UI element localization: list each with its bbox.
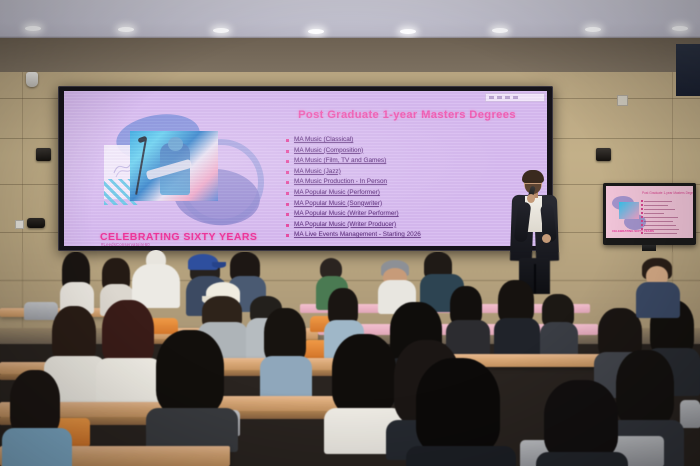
bullet-marker-icon <box>286 192 289 195</box>
aux-confidence-monitor[interactable]: Post Graduate 1-year Masters Degrees CEL… <box>603 183 696 245</box>
ceiling-light-3 <box>213 28 229 33</box>
main-presentation-screen[interactable]: CELEBRATING SIXTY YEARS #LeedsConservato… <box>58 86 553 251</box>
person <box>262 308 308 388</box>
aux-campaign-headline: CELEBRATING SIXTY YEARS <box>612 229 654 233</box>
bullet-marker-icon <box>286 171 289 174</box>
toolbar-icon-4[interactable] <box>513 96 518 99</box>
bullet-text: MA Music (Jazz) <box>294 167 341 176</box>
list-item: MA Music (Film, TV and Games) <box>286 156 536 165</box>
aux-slide-surface: Post Graduate 1-year Masters Degrees CEL… <box>606 186 693 238</box>
list-item: MA Music (Classical) <box>286 135 536 144</box>
list-item: MA Live Events Management - Starting 202… <box>286 230 536 239</box>
list-item: MA Music (Jazz) <box>286 167 536 176</box>
toolbar-icon-3[interactable] <box>505 96 510 99</box>
bullet-text: MA Music (Composition) <box>294 146 363 155</box>
ceiling-light-1 <box>25 26 41 31</box>
wall-plate-left[interactable] <box>15 220 24 229</box>
bullet-marker-icon <box>286 181 289 184</box>
corner-panel-right <box>676 44 700 96</box>
person <box>8 370 64 466</box>
bullet-marker-icon <box>286 203 289 206</box>
toolbar-icon-1[interactable] <box>489 96 494 99</box>
ceiling-light-6 <box>492 28 508 33</box>
bullet-marker-icon <box>286 160 289 163</box>
person <box>448 286 486 346</box>
bullet-marker-icon <box>286 139 289 142</box>
person <box>540 380 622 466</box>
person <box>100 300 156 390</box>
ceiling-light-2 <box>118 27 134 32</box>
ceiling <box>0 0 700 40</box>
person <box>410 358 506 466</box>
slide-artwork: CELEBRATING SIXTY YEARS #LeedsConservato… <box>82 103 267 233</box>
operator-person <box>636 258 678 316</box>
presentation-toolbar[interactable] <box>485 93 545 102</box>
slide-title: Post Graduate 1-year Masters Degrees <box>276 109 538 121</box>
bullet-text: MA Music (Classical) <box>294 135 353 144</box>
person <box>152 330 230 440</box>
bullet-text: MA Music (Film, TV and Games) <box>294 156 386 165</box>
bullet-marker-icon <box>286 213 289 216</box>
person <box>60 252 92 312</box>
slide-surface: CELEBRATING SIXTY YEARS #LeedsConservato… <box>64 91 547 246</box>
person <box>540 294 576 350</box>
bullet-text: MA Popular Music (Writer Performer) <box>294 209 399 218</box>
list-item: MA Music Production - In Person <box>286 177 536 186</box>
bullet-marker-icon <box>286 234 289 237</box>
ceiling-light-8 <box>672 26 688 31</box>
list-item: MA Popular Music (Songwriter) <box>286 199 536 208</box>
ceiling-light-7 <box>585 27 601 32</box>
audience-area <box>0 250 700 466</box>
aux-slide-title: Post Graduate 1-year Masters Degrees <box>642 191 693 195</box>
list-item: MA Popular Music (Writer Producer) <box>286 220 536 229</box>
bullet-text: MA Live Events Management - Starting 202… <box>294 230 421 239</box>
person <box>496 280 536 346</box>
bullet-marker-icon <box>286 224 289 227</box>
bullet-text: MA Popular Music (Performer) <box>294 188 380 197</box>
ceiling-light-4 <box>308 29 324 34</box>
list-item: MA Popular Music (Performer) <box>286 188 536 197</box>
ceiling-light-5 <box>400 29 416 34</box>
bullet-text: MA Popular Music (Songwriter) <box>294 199 382 208</box>
aux-artwork-photo <box>619 202 639 219</box>
presenter-hair <box>522 170 544 183</box>
toolbar-icon-2[interactable] <box>497 96 502 99</box>
campaign-hashtag: #LeedsConservatoire60 <box>101 242 150 246</box>
wall-speaker-dark-right <box>596 148 611 161</box>
lecture-hall-photo: CELEBRATING SIXTY YEARS #LeedsConservato… <box>0 0 700 466</box>
bullet-text: MA Music Production - In Person <box>294 177 387 186</box>
bullet-marker-icon <box>286 150 289 153</box>
artwork-photo-guitarist <box>130 131 218 201</box>
wall-speaker-low-left <box>27 218 45 228</box>
upper-wall <box>0 38 700 74</box>
wall-speaker-white-left <box>26 72 38 87</box>
wall-speaker-dark-left <box>36 148 51 161</box>
bullet-text: MA Popular Music (Writer Producer) <box>294 220 396 229</box>
slide-bullet-list: MA Music (Classical) MA Music (Compositi… <box>286 135 536 241</box>
list-item: MA Music (Composition) <box>286 146 536 155</box>
list-item: MA Popular Music (Writer Performer) <box>286 209 536 218</box>
wall-plate-right[interactable] <box>617 95 628 106</box>
